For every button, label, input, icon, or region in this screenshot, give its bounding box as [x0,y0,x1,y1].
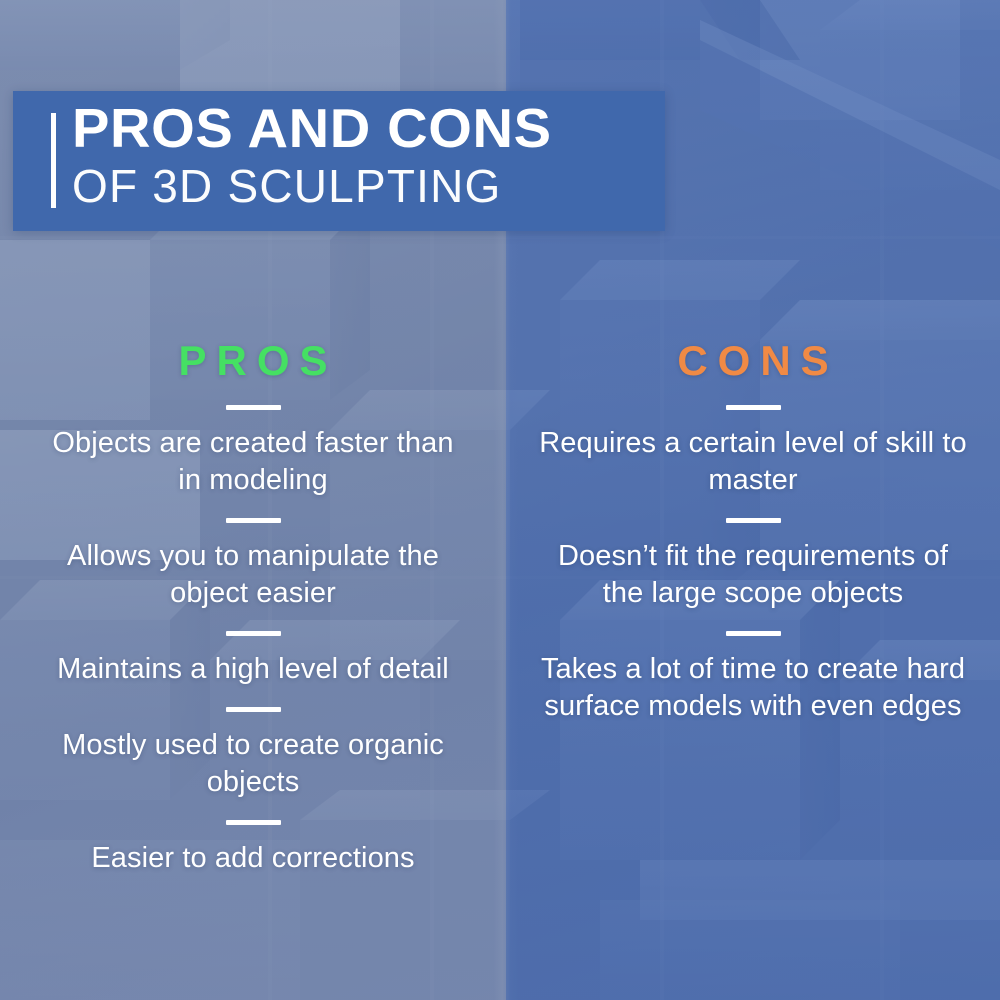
pros-item-text: Objects are created faster than in model… [38,425,468,499]
list-item: Objects are created faster than in model… [18,405,488,499]
list-item: Takes a lot of time to create hard surfa… [518,631,988,725]
page-title: PROS AND CONS [72,97,669,159]
list-item: Mostly used to create organic objects [18,707,488,801]
pros-item-text: Maintains a high level of detail [38,651,468,688]
list-item: Allows you to manipulate the object easi… [18,518,488,612]
list-item: Doesn’t fit the requirements of the larg… [518,518,988,612]
divider-dash-icon [726,518,781,523]
divider-dash-icon [226,820,281,825]
divider-dash-icon [226,631,281,636]
pros-column: PROS Objects are created faster than in … [18,336,488,877]
list-item: Maintains a high level of detail [18,631,488,688]
pros-item-text: Allows you to manipulate the object easi… [38,538,468,612]
cons-column: CONS Requires a certain level of skill t… [518,336,988,725]
page-subtitle: OF 3D SCULPTING [72,159,657,213]
divider-dash-icon [726,631,781,636]
cons-item-text: Doesn’t fit the requirements of the larg… [538,538,968,612]
title-block: PROS AND CONS OF 3D SCULPTING [72,97,657,213]
divider-dash-icon [226,518,281,523]
divider-dash-icon [226,405,281,410]
cons-item-text: Takes a lot of time to create hard surfa… [538,651,968,725]
divider-dash-icon [226,707,281,712]
list-item: Requires a certain level of skill to mas… [518,405,988,499]
cons-heading: CONS [528,336,988,386]
pros-item-text: Easier to add corrections [38,840,468,877]
pros-heading: PROS [28,336,488,386]
infographic-canvas: PROS AND CONS OF 3D SCULPTING PROS Objec… [0,0,1000,1000]
divider-dash-icon [726,405,781,410]
pros-item-text: Mostly used to create organic objects [38,727,468,801]
title-banner: PROS AND CONS OF 3D SCULPTING [13,91,665,231]
list-item: Easier to add corrections [18,820,488,877]
accent-bar-icon [51,113,56,208]
cons-item-text: Requires a certain level of skill to mas… [538,425,968,499]
